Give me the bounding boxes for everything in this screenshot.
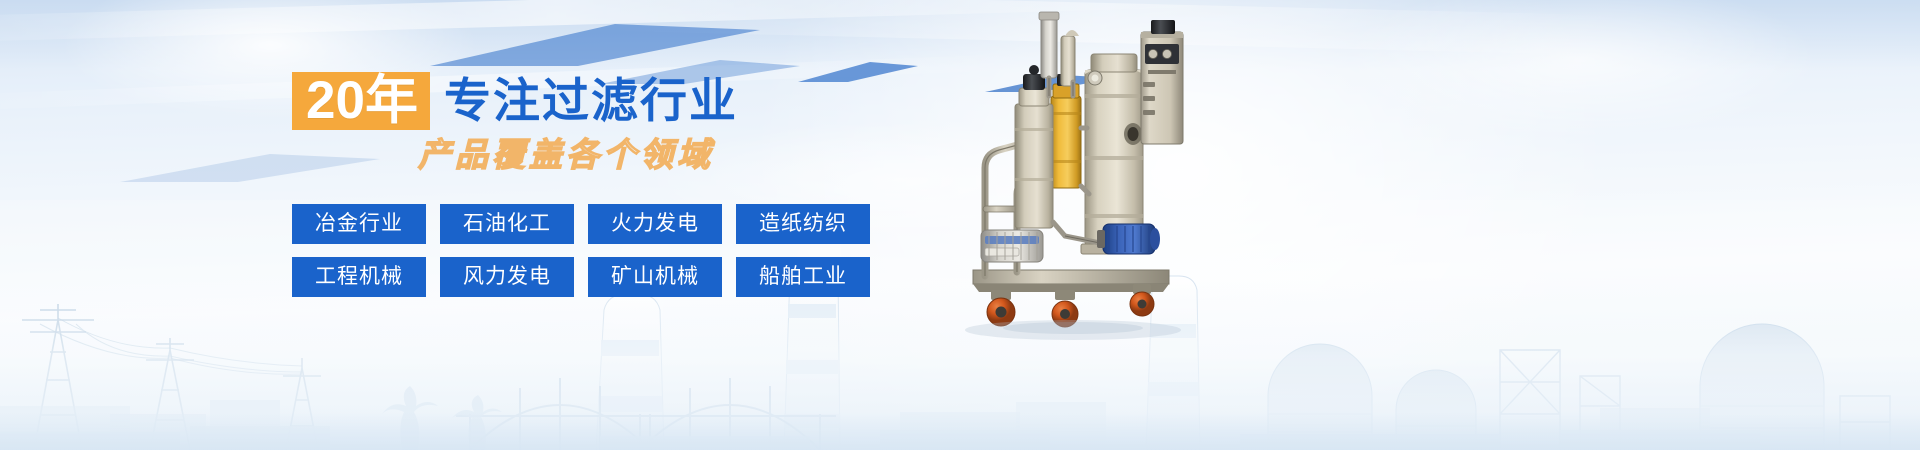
industry-tag-wind-power[interactable]: 风力发电	[440, 257, 574, 297]
banner-content: 20年 专注过滤行业 产品覆盖各个领域 冶金行业 石油化工 火力发电 造纸纺织 …	[292, 72, 912, 297]
headline-main-text: 专注过滤行业	[444, 72, 738, 130]
industry-tag-grid: 冶金行业 石油化工 火力发电 造纸纺织 工程机械 风力发电 矿山机械 船舶工业	[292, 204, 912, 297]
promotional-banner: 20年 专注过滤行业 产品覆盖各个领域 冶金行业 石油化工 火力发电 造纸纺织 …	[0, 0, 1920, 450]
product-image-oil-filter-cart	[955, 8, 1255, 348]
headline-row: 20年 专注过滤行业	[292, 72, 912, 130]
headline-sub-text: 产品覆盖各个领域	[418, 134, 912, 176]
industry-tag-paper-textile[interactable]: 造纸纺织	[736, 204, 870, 244]
industry-tag-thermal-power[interactable]: 火力发电	[588, 204, 722, 244]
industry-tag-construction-machinery[interactable]: 工程机械	[292, 257, 426, 297]
industry-tag-row: 冶金行业 石油化工 火力发电 造纸纺织	[292, 204, 912, 244]
industry-tag-row: 工程机械 风力发电 矿山机械 船舶工业	[292, 257, 912, 297]
industry-tag-petrochemical[interactable]: 石油化工	[440, 204, 574, 244]
industry-tag-shipbuilding[interactable]: 船舶工业	[736, 257, 870, 297]
ground-strip	[0, 412, 1920, 450]
industry-tag-mining-machinery[interactable]: 矿山机械	[588, 257, 722, 297]
years-badge: 20年	[292, 72, 430, 130]
industry-tag-metallurgy[interactable]: 冶金行业	[292, 204, 426, 244]
